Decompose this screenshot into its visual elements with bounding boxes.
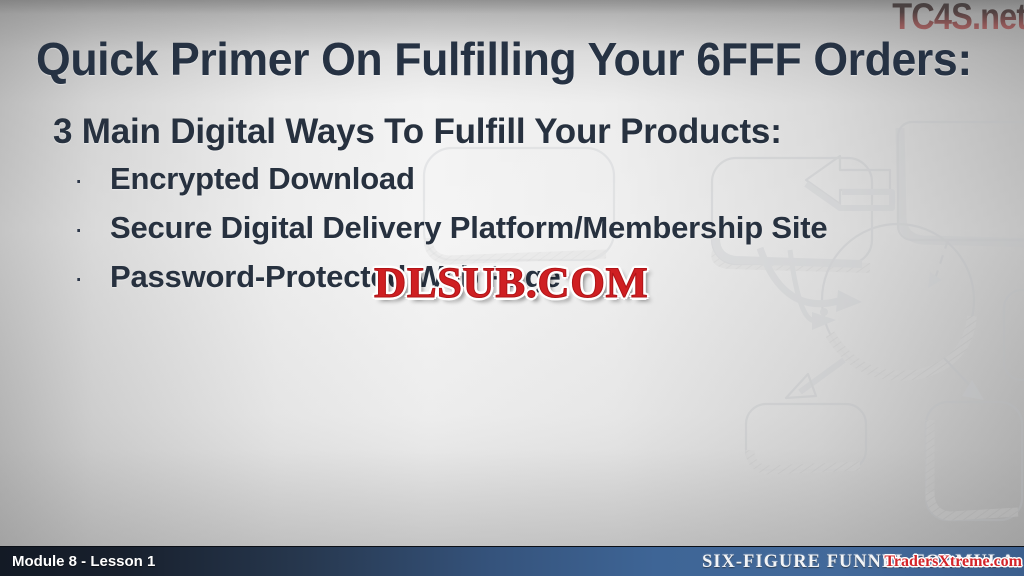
- footer-bar: Module 8 - Lesson 1 SIX-FIGURE FUNNEL FO…: [0, 546, 1024, 576]
- dlsub-watermark: DLSUB.COM: [374, 262, 648, 305]
- bullet-label: Secure Digital Delivery Platform/Members…: [110, 210, 827, 246]
- tc4s-watermark: TC4S.net: [892, 0, 1024, 35]
- bullet-dot-icon: ·: [68, 215, 110, 243]
- bullet-dot-icon: ·: [68, 166, 110, 194]
- bullet-label: Encrypted Download: [110, 161, 415, 197]
- bullet-dot-icon: ·: [68, 264, 110, 292]
- slide-canvas: TC4S.net Quick Primer On Fulfilling Your…: [0, 0, 1024, 576]
- tradersxtreme-watermark: TradersXtreme.com: [884, 553, 1022, 571]
- lesson-label: Module 8 - Lesson 1: [12, 551, 155, 572]
- slide-subtitle: 3 Main Digital Ways To Fulfill Your Prod…: [53, 112, 782, 152]
- list-item: · Secure Digital Delivery Platform/Membe…: [68, 210, 827, 259]
- slide-title: Quick Primer On Fulfilling Your 6FFF Ord…: [36, 33, 972, 85]
- list-item: · Encrypted Download: [68, 161, 827, 210]
